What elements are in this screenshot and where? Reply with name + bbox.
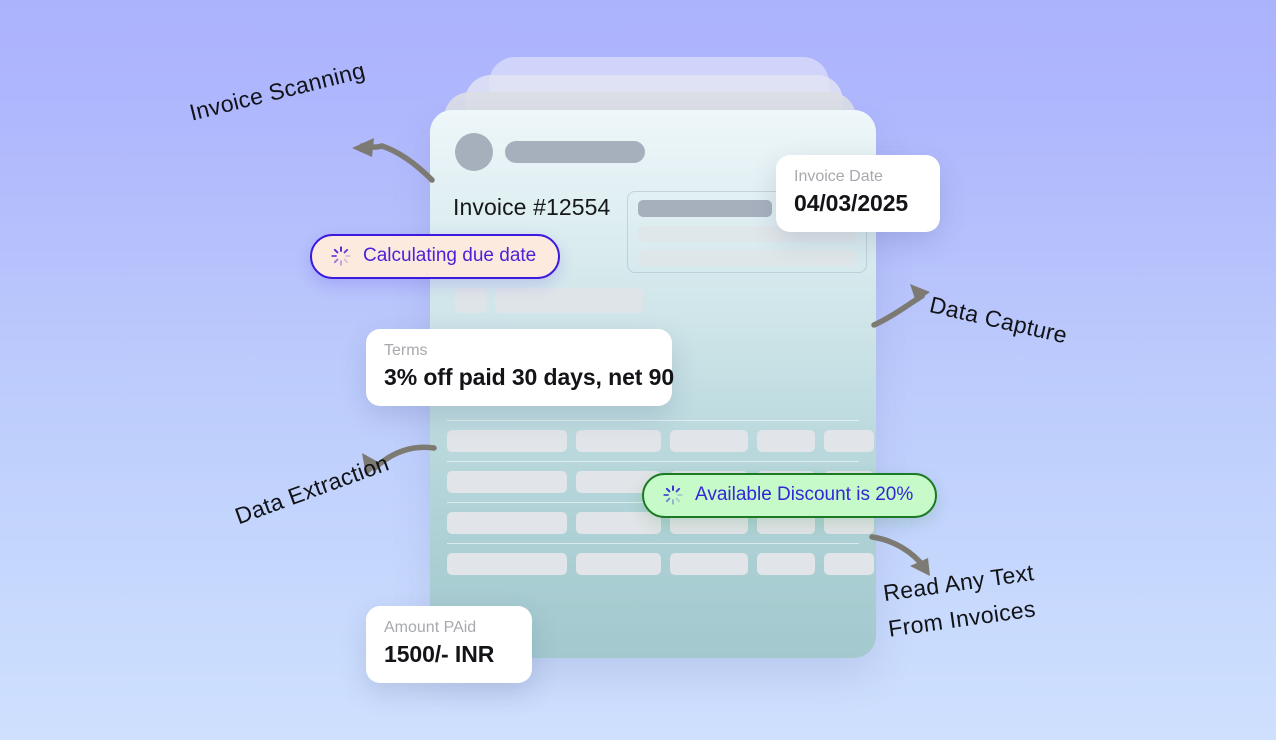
header-placeholder-bar: [505, 141, 645, 163]
table-cell: [757, 430, 815, 452]
info-card-label: Invoice Date: [794, 168, 922, 186]
table-cell: [757, 553, 815, 575]
chip-small: [455, 288, 487, 313]
annotation-data-capture: Data Capture: [927, 291, 1070, 349]
invoice-card-header: [455, 133, 645, 171]
info-card-value: 3% off paid 30 days, net 90: [384, 364, 654, 391]
table-cell: [447, 512, 567, 534]
table-row: [443, 421, 863, 461]
avatar-circle-icon: [455, 133, 493, 171]
info-card-value: 04/03/2025: [794, 190, 922, 217]
invoice-number: Invoice #12554: [453, 194, 610, 221]
info-card-value: 1500/- INR: [384, 641, 514, 668]
table-cell: [824, 430, 874, 452]
spinner-icon: [662, 484, 684, 506]
spinner-icon: [330, 245, 352, 267]
status-pill-available-discount: Available Discount is 20%: [642, 473, 937, 518]
annotation-invoice-scanning: Invoice Scanning: [187, 57, 368, 127]
detail-placeholder-bar-light-2: [638, 250, 856, 266]
annotation-data-extraction: Data Extraction: [231, 449, 392, 530]
table-cell: [576, 430, 661, 452]
arrowhead-scanning: [352, 138, 374, 157]
chip-large: [495, 288, 643, 313]
info-card-invoice-date: Invoice Date 04/03/2025: [776, 155, 940, 232]
illustration-stage: Invoice #12554: [0, 0, 1276, 740]
table-cell: [670, 553, 748, 575]
table-cell: [576, 553, 661, 575]
info-card-label: Amount PAid: [384, 619, 514, 637]
detail-placeholder-bar-dark: [638, 200, 772, 217]
info-card-label: Terms: [384, 342, 654, 360]
info-card-terms: Terms 3% off paid 30 days, net 90: [366, 329, 672, 406]
table-row: [443, 544, 863, 584]
annotation-read-any-text: Read Any Text From Invoices: [881, 552, 1064, 647]
arrowhead-capture: [910, 284, 930, 302]
status-pill-label: Available Discount is 20%: [695, 484, 913, 506]
table-cell: [824, 553, 874, 575]
table-cell: [447, 471, 567, 493]
table-cell: [447, 553, 567, 575]
status-pill-label: Calculating due date: [363, 245, 536, 267]
status-pill-calculating-due-date: Calculating due date: [310, 234, 560, 279]
table-cell: [670, 430, 748, 452]
info-card-amount-paid: Amount PAid 1500/- INR: [366, 606, 532, 683]
table-cell: [576, 512, 661, 534]
table-cell: [447, 430, 567, 452]
invoice-chip-row: [455, 288, 643, 313]
